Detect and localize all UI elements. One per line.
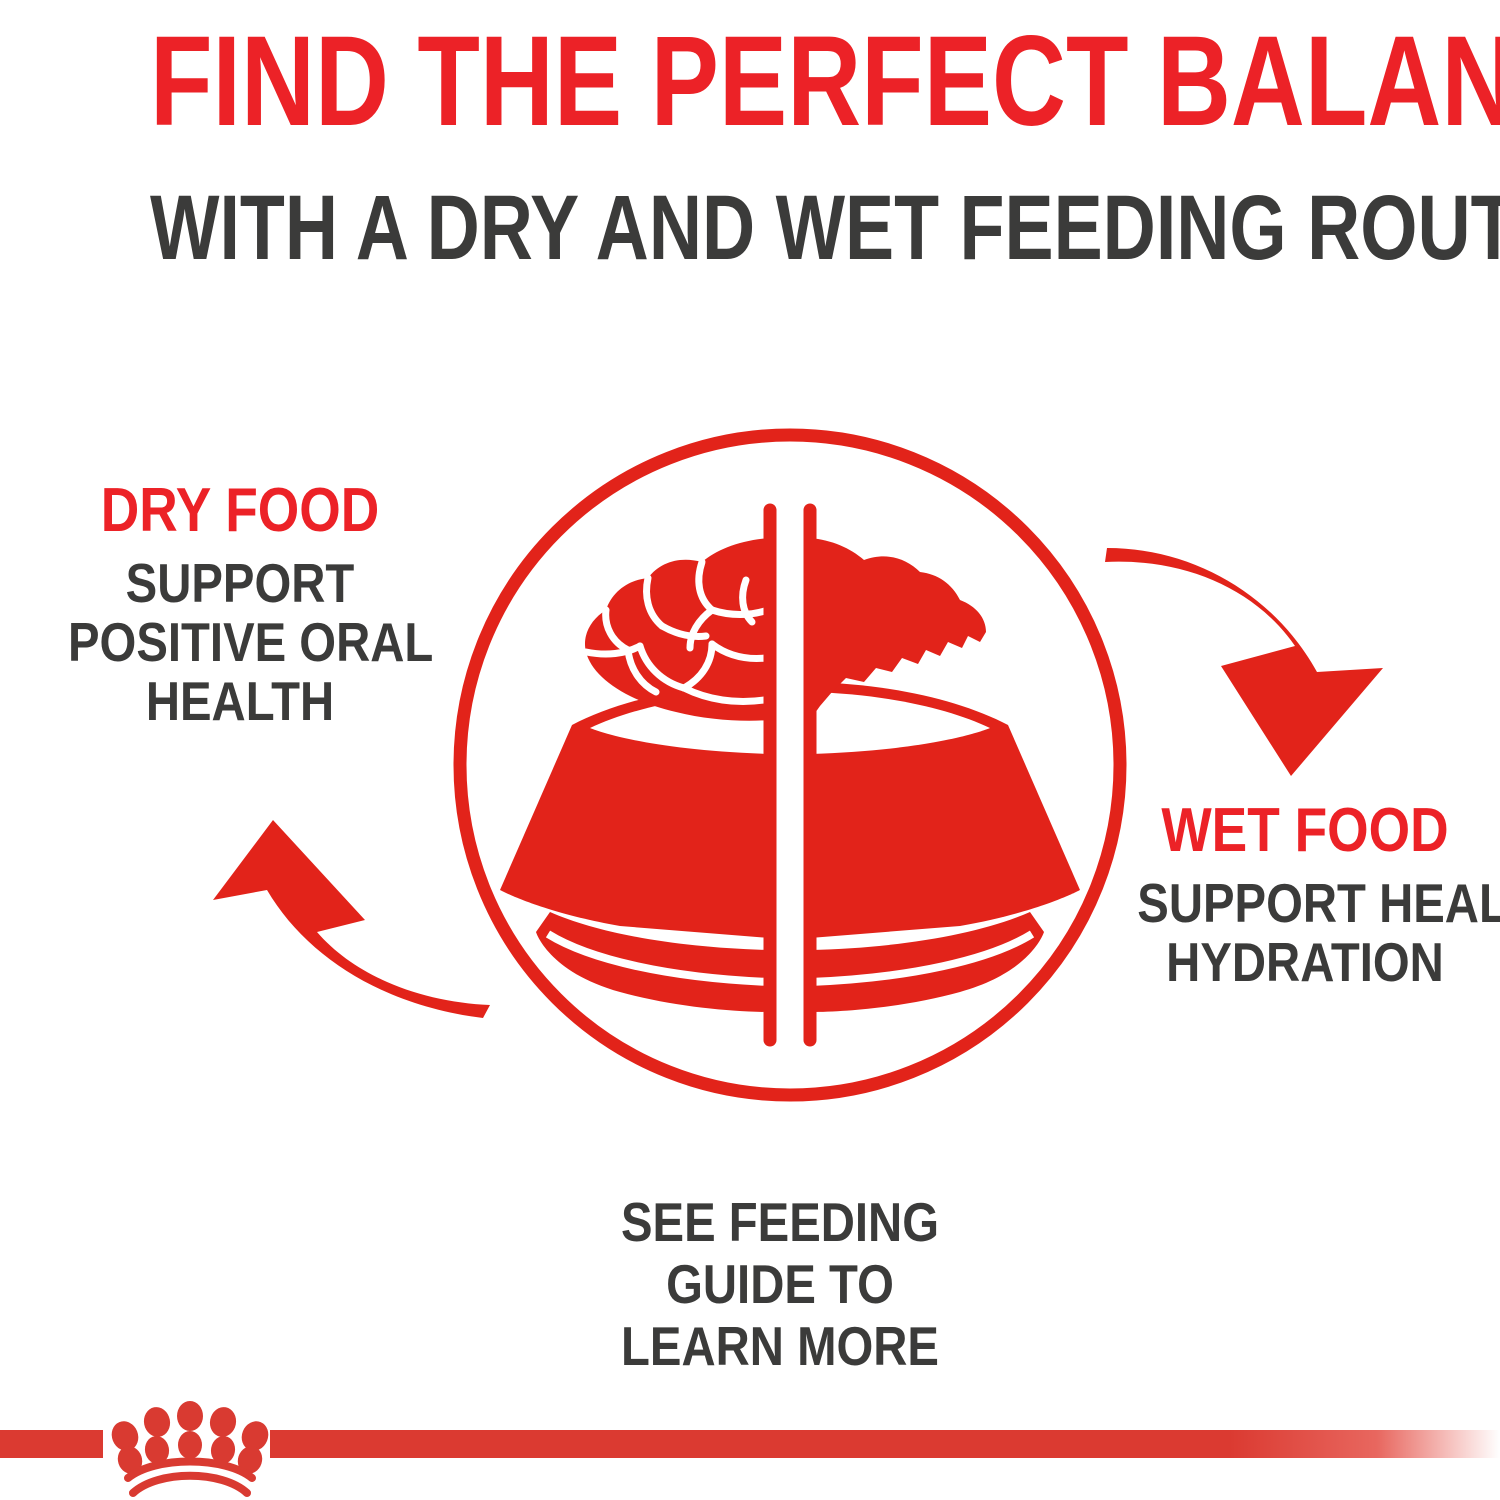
footer-bar-left: [0, 1430, 103, 1458]
infographic-page: FIND THE PERFECT BALANCE WITH A DRY AND …: [0, 0, 1500, 1500]
wet-food-title: WET FOOD: [1137, 800, 1472, 862]
dog-bowl-emblem: [440, 420, 1140, 1120]
wet-food-desc-line-2: HYDRATION: [1137, 935, 1472, 990]
bowl-icon: [500, 510, 1080, 1050]
dry-food-title: DRY FOOD: [68, 480, 412, 542]
dry-food-desc-line-1: SUPPORT: [68, 556, 412, 611]
arrow-to-dry-food: [195, 780, 495, 1030]
cta-line-2: GUIDE TO: [565, 1257, 995, 1312]
dry-food-desc-line-3: HEALTH: [68, 674, 412, 729]
feeding-guide-cta[interactable]: SEE FEEDING GUIDE TO LEARN MORE: [530, 1195, 1030, 1381]
dry-food-callout: DRY FOOD SUPPORT POSITIVE ORAL HEALTH: [40, 480, 440, 733]
dry-food-description: SUPPORT POSITIVE ORAL HEALTH: [68, 556, 412, 729]
dry-food-desc-line-2: POSITIVE ORAL: [68, 615, 412, 670]
wet-food-callout: WET FOOD SUPPORT HEALTHY HYDRATION: [1110, 800, 1500, 994]
footer: [0, 1398, 1500, 1500]
dry-kibble-group: [585, 538, 770, 721]
wet-food-desc-line-1: SUPPORT HEALTHY: [1137, 876, 1472, 931]
arrow-to-wet-food: [1095, 540, 1395, 790]
crown-dots: [107, 1401, 272, 1477]
footer-bar-right: [270, 1430, 1500, 1458]
curved-arrow-down-right-icon: [1105, 548, 1383, 776]
page-title: FIND THE PERFECT BALANCE: [150, 18, 1350, 146]
crown-arcs: [128, 1462, 252, 1494]
cta-line-3: LEARN MORE: [565, 1319, 995, 1374]
curved-arrow-up-left-icon: [213, 820, 490, 1018]
cta-line-1: SEE FEEDING: [565, 1195, 995, 1250]
wet-food-description: SUPPORT HEALTHY HYDRATION: [1137, 876, 1472, 990]
royal-canin-crown-logo: [100, 1398, 280, 1498]
page-subtitle: WITH A DRY AND WET FEEDING ROUTINE: [150, 182, 1350, 274]
